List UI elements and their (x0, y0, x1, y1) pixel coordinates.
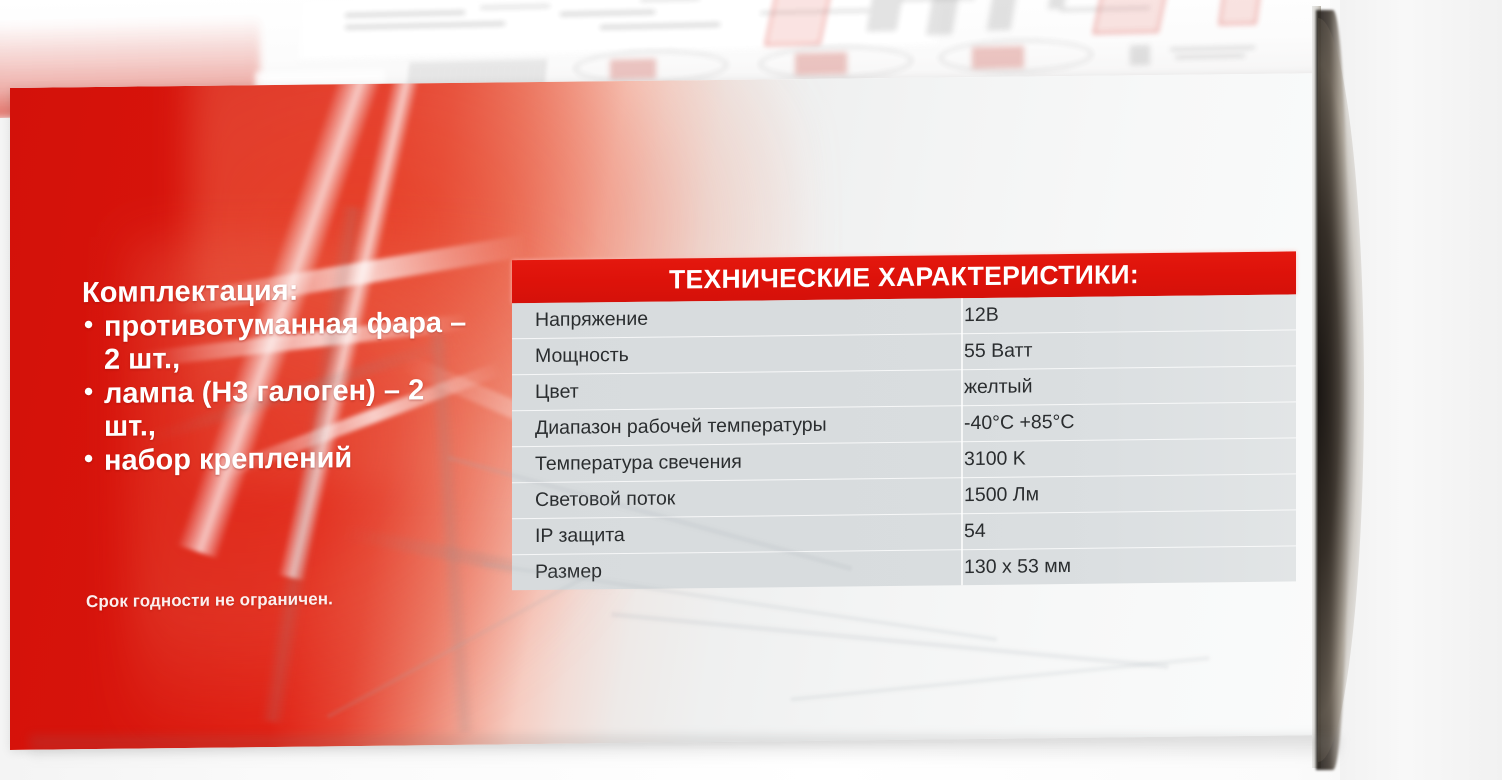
top-face-red-badge (1092, 0, 1169, 34)
spec-key: Напряжение (512, 304, 962, 332)
spec-value: -40°C +85°C (962, 408, 1296, 435)
package-contents-title: Комплектация: (82, 273, 482, 310)
spec-table: ТЕХНИЧЕСКИЕ ХАРАКТЕРИСТИКИ: Напряжение 1… (512, 251, 1296, 590)
top-face-spec-block (986, 0, 1017, 31)
box-floor-shadow (30, 736, 1340, 762)
list-item: лампа (H3 галоген) – 2 шт., (82, 374, 482, 443)
spec-value: 1500 Лм (962, 480, 1296, 507)
top-face-spec-block (926, 0, 960, 35)
list-item: противотуманная фара – 2 шт., (82, 307, 482, 376)
spec-value: 12В (962, 300, 1296, 327)
top-face-mark (972, 46, 1024, 69)
product-box-photo: Комплектация: противотуманная фара – 2 ш… (0, 0, 1502, 780)
top-face-mark (795, 52, 847, 75)
spec-key: Размер (512, 556, 962, 584)
spec-value: 130 x 53 мм (962, 552, 1296, 579)
spec-table-body: Напряжение 12В Мощность 55 Ватт Цвет жел… (512, 294, 1296, 590)
spec-key: IP защита (512, 520, 962, 548)
top-face-text-line (1170, 46, 1255, 50)
top-face-text-line (1175, 55, 1245, 59)
spec-key: Мощность (512, 340, 962, 368)
package-contents-block: Комплектация: противотуманная фара – 2 ш… (82, 273, 482, 478)
spec-value: желтый (962, 372, 1296, 399)
spec-table-header-label: ТЕХНИЧЕСКИЕ ХАРАКТЕРИСТИКИ: (669, 259, 1139, 295)
backdrop-right-gradient (1340, 0, 1502, 780)
shelf-life-note: Срок годности не ограничен. (86, 589, 333, 612)
spec-key: Температура свечения (512, 448, 962, 476)
top-face-mark (1130, 45, 1150, 65)
spec-key: Цвет (512, 376, 962, 404)
top-face-red-badge (1218, 0, 1263, 25)
spec-value: 54 (962, 516, 1296, 543)
spec-key: Диапазон рабочей температуры (512, 412, 962, 440)
list-item: набор креплений (82, 441, 482, 478)
box-front-face: Комплектация: противотуманная фара – 2 ш… (10, 73, 1330, 750)
package-contents-list: противотуманная фара – 2 шт., лампа (H3 … (82, 307, 482, 478)
top-face-mark (610, 59, 656, 80)
spec-key: Световой поток (512, 484, 962, 512)
spec-value: 55 Ватт (962, 336, 1296, 363)
spec-value: 3100 K (962, 444, 1296, 471)
